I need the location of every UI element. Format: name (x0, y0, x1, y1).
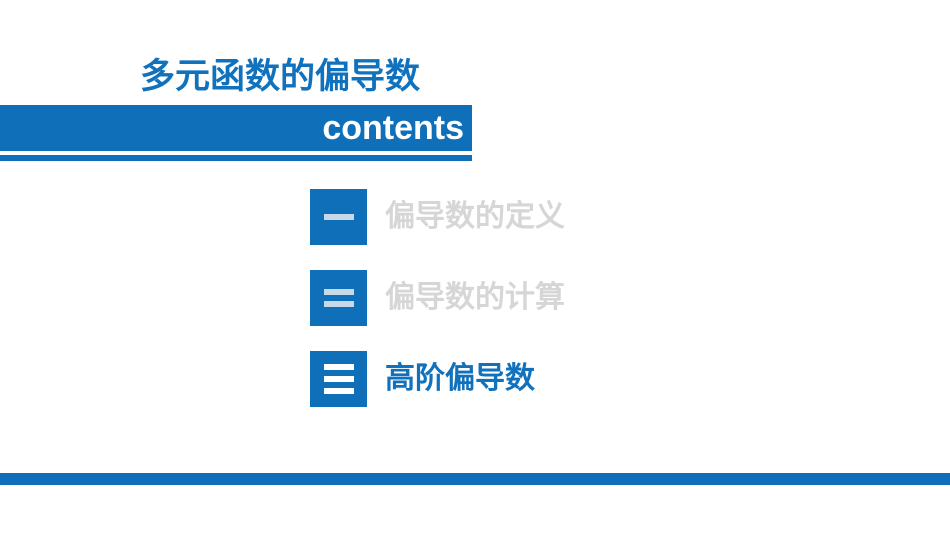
presentation-slide: 多元函数的偏导数 contents 偏导数的定义 偏导数的计算 高阶偏导数 (0, 0, 950, 535)
footer-accent-bar (0, 473, 950, 485)
contents-header-label: contents (322, 105, 464, 151)
header-underline-rule (0, 155, 472, 161)
toc-item-label: 偏导数的定义 (385, 189, 565, 245)
numeral-stroke (324, 364, 354, 370)
numeral-two-icon (310, 270, 367, 326)
toc-item-label: 偏导数的计算 (385, 270, 565, 326)
numeral-stroke (324, 214, 354, 220)
toc-item-1[interactable]: 偏导数的定义 (310, 189, 730, 245)
numeral-stroke (324, 301, 354, 307)
toc-item-3[interactable]: 高阶偏导数 (310, 351, 730, 407)
numeral-three-icon (310, 351, 367, 407)
toc-item-label: 高阶偏导数 (385, 351, 535, 407)
numeral-stroke (324, 388, 354, 394)
numeral-stroke (324, 289, 354, 295)
toc-item-2[interactable]: 偏导数的计算 (310, 270, 730, 326)
page-title: 多元函数的偏导数 (140, 55, 480, 99)
numeral-stroke (324, 376, 354, 382)
contents-header-band: contents (0, 105, 472, 151)
table-of-contents: 偏导数的定义 偏导数的计算 高阶偏导数 (310, 189, 730, 432)
numeral-one-icon (310, 189, 367, 245)
